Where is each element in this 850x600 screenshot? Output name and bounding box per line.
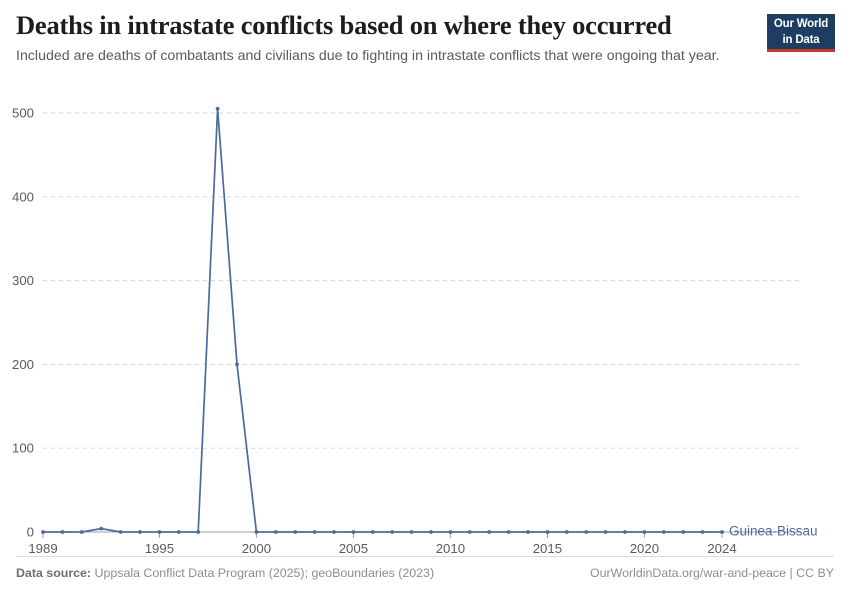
line-chart-svg[interactable]: 0100200300400500 19891995200020052010201… — [0, 96, 850, 556]
data-point[interactable] — [158, 530, 162, 534]
y-axis-tick-labels: 0100200300400500 — [12, 106, 34, 540]
data-point[interactable] — [99, 527, 103, 531]
data-point[interactable] — [662, 530, 666, 534]
data-point[interactable] — [216, 107, 220, 111]
y-tick-label: 400 — [12, 189, 34, 204]
data-source-text: Uppsala Conflict Data Program (2025); ge… — [95, 566, 435, 580]
data-point[interactable] — [526, 530, 530, 534]
chart-page: Deaths in intrastate conflicts based on … — [0, 0, 850, 600]
data-point[interactable] — [313, 530, 317, 534]
data-point[interactable] — [487, 530, 491, 534]
data-point[interactable] — [235, 363, 239, 367]
data-point[interactable] — [41, 530, 45, 534]
data-point[interactable] — [720, 530, 724, 534]
footer-divider — [16, 556, 834, 557]
data-point[interactable] — [449, 530, 453, 534]
data-point[interactable] — [352, 530, 356, 534]
data-point[interactable] — [468, 530, 472, 534]
data-point[interactable] — [196, 530, 200, 534]
x-tick-label: 2020 — [630, 541, 659, 556]
chart-footer: Data source: Uppsala Conflict Data Progr… — [16, 566, 834, 580]
series-end-labels: Guinea-Bissau — [729, 524, 818, 539]
data-point[interactable] — [623, 530, 627, 534]
y-tick-label: 100 — [12, 441, 34, 456]
chart-header: Deaths in intrastate conflicts based on … — [16, 10, 756, 66]
data-point[interactable] — [429, 530, 433, 534]
owid-logo-line1: Our World — [767, 18, 835, 34]
chart-plot-area[interactable]: 0100200300400500 19891995200020052010201… — [0, 96, 850, 556]
data-point[interactable] — [371, 530, 375, 534]
y-tick-label: 500 — [12, 106, 34, 121]
data-point[interactable] — [643, 530, 647, 534]
data-source-label: Data source: — [16, 566, 91, 580]
owid-logo-rule — [767, 49, 835, 52]
data-point[interactable] — [604, 530, 608, 534]
x-axis-tick-labels: 19891995200020052010201520202024 — [28, 533, 736, 556]
data-point[interactable] — [565, 530, 569, 534]
x-tick-label: 2015 — [533, 541, 562, 556]
data-point[interactable] — [177, 530, 181, 534]
data-point[interactable] — [410, 530, 414, 534]
x-tick-label: 2024 — [707, 541, 736, 556]
x-tick-label: 2005 — [339, 541, 368, 556]
data-series-group[interactable] — [41, 107, 724, 534]
owid-logo[interactable]: Our World in Data — [767, 14, 835, 52]
data-point[interactable] — [274, 530, 278, 534]
y-tick-label: 300 — [12, 273, 34, 288]
data-point[interactable] — [584, 530, 588, 534]
data-point[interactable] — [332, 530, 336, 534]
owid-logo-line2: in Data — [767, 34, 835, 50]
data-source: Data source: Uppsala Conflict Data Progr… — [16, 566, 434, 580]
x-tick-label: 1995 — [145, 541, 174, 556]
data-point[interactable] — [293, 530, 297, 534]
y-tick-label: 200 — [12, 357, 34, 372]
data-point[interactable] — [390, 530, 394, 534]
data-point[interactable] — [507, 530, 511, 534]
data-point[interactable] — [138, 530, 142, 534]
x-tick-label: 2010 — [436, 541, 465, 556]
data-point[interactable] — [701, 530, 705, 534]
x-tick-label: 2000 — [242, 541, 271, 556]
data-point[interactable] — [61, 530, 65, 534]
series-label: Guinea-Bissau — [729, 524, 818, 539]
x-tick-label: 1989 — [28, 541, 57, 556]
data-point[interactable] — [255, 530, 259, 534]
data-point[interactable] — [119, 530, 123, 534]
page-title: Deaths in intrastate conflicts based on … — [16, 10, 756, 40]
data-point[interactable] — [681, 530, 685, 534]
data-point[interactable] — [80, 530, 84, 534]
chart-subtitle: Included are deaths of combatants and ci… — [16, 47, 726, 66]
series-line[interactable] — [43, 109, 722, 532]
gridlines — [43, 113, 800, 532]
attribution-link[interactable]: OurWorldinData.org/war-and-peace | CC BY — [590, 566, 834, 580]
y-tick-label: 0 — [27, 525, 34, 540]
data-point[interactable] — [546, 530, 550, 534]
